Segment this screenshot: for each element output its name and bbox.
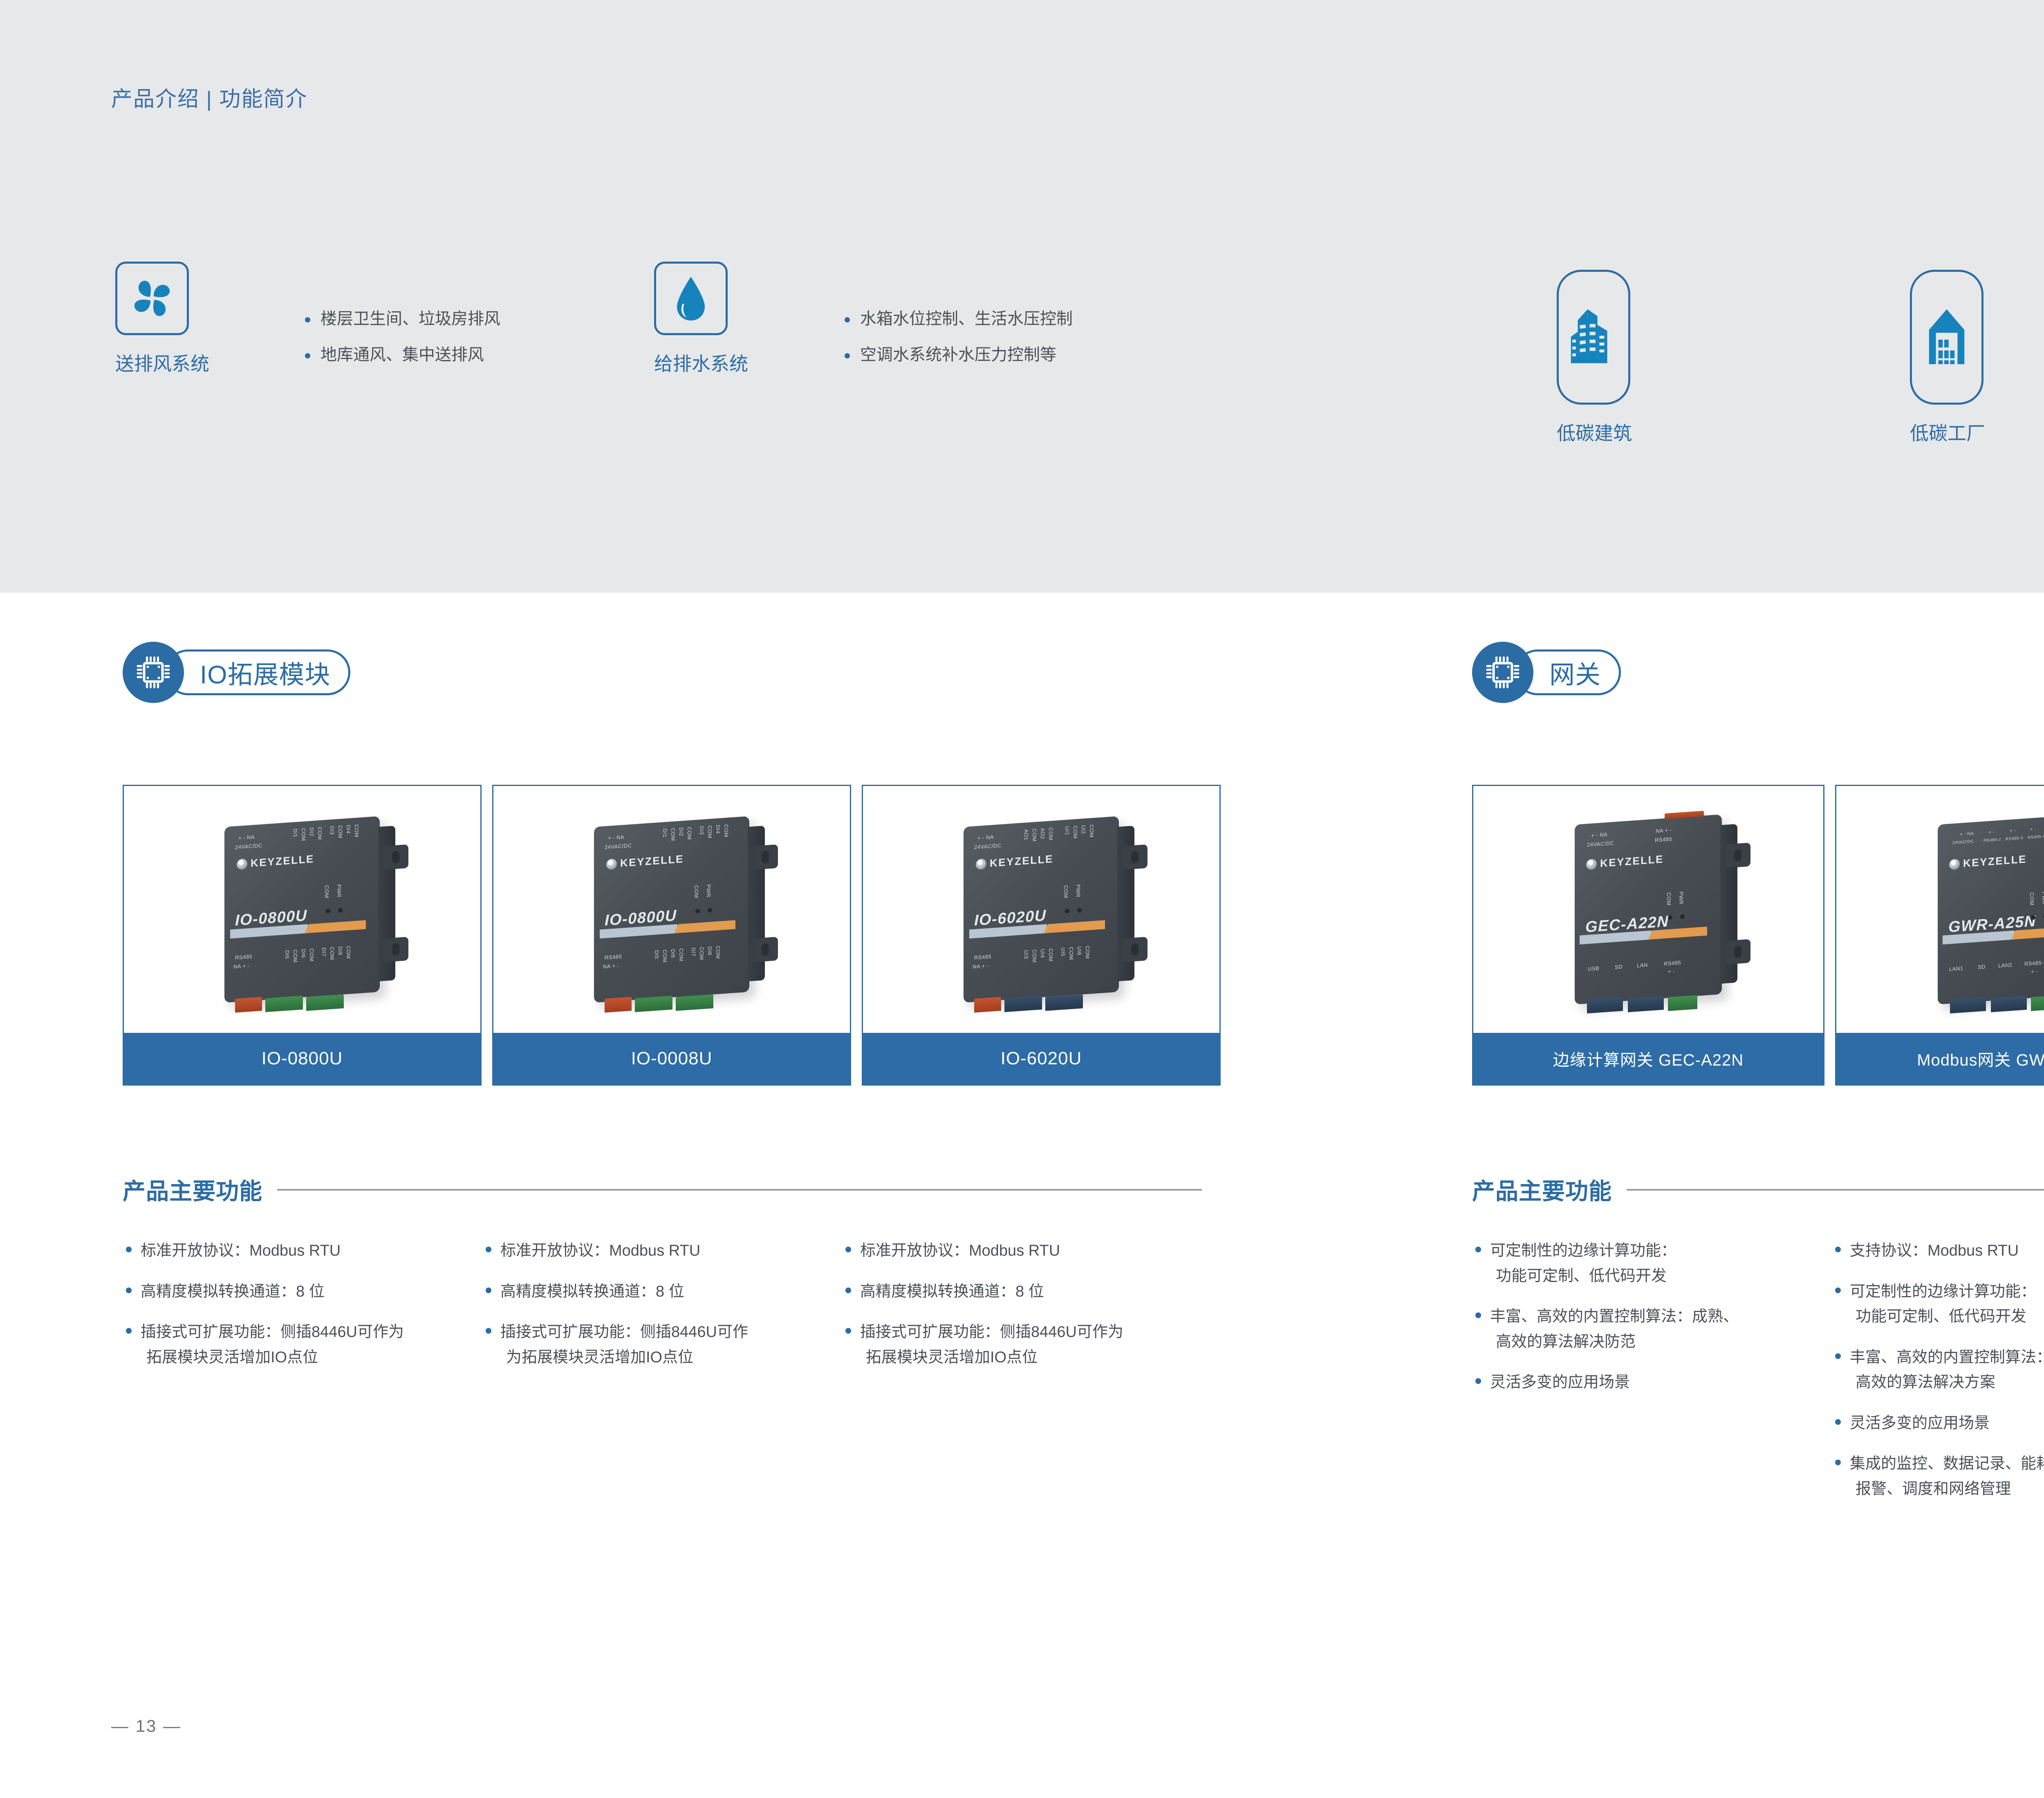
- port-label: COM: [1031, 949, 1038, 963]
- port-label: COM: [345, 946, 352, 959]
- device-illustration: + - NA 24VAC/DC AO1 COM AO2 COM UI1 COM …: [964, 816, 1119, 1003]
- product-caption: IO-0008U: [493, 1033, 850, 1084]
- feature-item: 灵活多变的应用场景: [1472, 1370, 1832, 1395]
- feature-item: 支持协议：Modbus RTU: [1832, 1238, 2044, 1264]
- top-scenario-band: 产品介绍 | 功能简介 产品介绍 | 功能简介 送排风系统 楼层卫生间、垃圾房排…: [0, 0, 2044, 593]
- tile-label: 低碳工厂: [1910, 419, 1985, 446]
- port-label: + - NA: [238, 834, 255, 841]
- port-label: + -: [1988, 830, 1995, 835]
- port-label: DI1: [292, 828, 298, 838]
- port-label: UI2: [1080, 825, 1087, 834]
- port-label: + - NA: [608, 834, 624, 841]
- product-image: + - NA 24VAC/DC AO1 COM AO2 COM UI1 COM …: [863, 786, 1219, 1033]
- port-label: LAN1: [1949, 965, 1963, 972]
- product-image: + - NA 24VAC/DC DI1 COM DI2 COM DI3 COM …: [493, 786, 850, 1033]
- led-label: COM: [2029, 892, 2035, 906]
- port-label: LAN: [1637, 962, 1648, 969]
- product-card-row-gateway: + - NA 24VAC/DC NA + - RS485 KEYZELLE GE…: [1472, 785, 2044, 1086]
- section-pill: IO拓展模块: [165, 649, 350, 695]
- feature-item: 可定制性的边缘计算功能： 功能可定制、低代码开发: [1832, 1279, 2044, 1330]
- device-illustration: + - NA 24VAC/DC DI1 COM DI2 COM DI3 COM …: [224, 816, 380, 1003]
- led-label: PWR: [2041, 891, 2044, 905]
- port-label: DI8: [337, 946, 343, 956]
- led-label: COM: [324, 885, 330, 898]
- port-label: RS485: [235, 954, 252, 961]
- chip-icon: [134, 653, 173, 692]
- feature-line: 功能可定制、低代码开发: [1490, 1264, 1832, 1289]
- port-label: COM: [670, 828, 676, 841]
- port-label: DI7: [690, 947, 697, 957]
- product-card[interactable]: + - NA 24VAC/DC AO1 COM AO2 COM UI1 COM …: [862, 785, 1221, 1086]
- office-buildings-icon: [1569, 305, 1618, 370]
- feature-item: 标准开放协议：Modbus RTU: [123, 1238, 482, 1264]
- port-label: COM: [354, 824, 360, 837]
- water-drop-icon: [668, 273, 714, 324]
- feature-item: 标准开放协议：Modbus RTU: [482, 1238, 842, 1264]
- feature-line: 高精度模拟转换通道：8 位: [860, 1283, 1044, 1300]
- port-label: + - NA: [1591, 831, 1607, 839]
- port-label: COM: [309, 948, 315, 962]
- feature-item: 插接式可扩展功能：侧插8446U可作为 拓展模块灵活增加IO点位: [123, 1320, 482, 1370]
- port-label: + -: [2031, 968, 2038, 974]
- feature-line: 插接式可扩展功能：侧插8446U可作为: [860, 1323, 1123, 1341]
- port-label: DI8: [707, 946, 713, 956]
- scenario-water-bullets: 水箱水位控制、生活水压控制 空调水系统补水压力控制等: [842, 311, 1073, 383]
- feature-line: 拓展模块灵活增加IO点位: [860, 1345, 1202, 1370]
- page-right: 网关 + - NA 24VAC/DC NA + - RS485: [1317, 593, 2044, 1798]
- tile-low-carbon-building: 低碳建筑: [1557, 270, 1632, 446]
- port-label: COM: [1048, 948, 1054, 962]
- port-label: 24VAC/DC: [974, 842, 1002, 851]
- port-label: + - NA: [977, 834, 994, 841]
- port-label: RS485-2: [1983, 837, 2001, 843]
- port-label: USB: [1588, 965, 1599, 972]
- port-label: DI1: [662, 828, 668, 838]
- port-label: COM: [300, 828, 307, 841]
- port-label: RS485: [605, 954, 622, 961]
- feature-line: 集成的监控、数据记录、能耗计量、: [1850, 1455, 2044, 1472]
- water-drop-icon-box: [654, 262, 728, 335]
- feature-line: 可定制性的边缘计算功能：: [1490, 1242, 1676, 1259]
- scenario-label: 送排风系统: [115, 349, 209, 376]
- port-label: COM: [337, 825, 343, 839]
- feature-column: 支持协议：Modbus RTU 可定制性的边缘计算功能： 功能可定制、低代码开发…: [1832, 1238, 2044, 1517]
- port-label: AO2: [1040, 828, 1046, 840]
- product-card[interactable]: + - NA + - + - + - + - 24VAC/DC RS485-2 …: [1835, 785, 2044, 1086]
- feature-line: 可定制性的边缘计算功能：: [1850, 1283, 2036, 1300]
- port-label: RS485: [974, 954, 991, 961]
- feature-item: 灵活多变的应用场景: [1832, 1411, 2044, 1436]
- feature-line: 高精度模拟转换通道：8 位: [141, 1283, 325, 1300]
- port-label: DI5: [284, 950, 290, 959]
- device-illustration: + - NA 24VAC/DC DI1 COM DI2 COM DI3 COM …: [594, 816, 749, 1003]
- tile-label: 低碳建筑: [1557, 419, 1632, 446]
- brand-mark-icon: [976, 858, 986, 870]
- product-caption: 边缘计算网关 GEC-A22N: [1473, 1033, 1823, 1084]
- port-label: COM: [715, 946, 721, 959]
- bullet-item: 空调水系统补水压力控制等: [842, 347, 1073, 363]
- port-label: SD: [1615, 963, 1623, 970]
- feature-line: 拓展模块灵活增加IO点位: [141, 1345, 482, 1370]
- feature-line: 支持协议：Modbus RTU: [1850, 1242, 2019, 1259]
- port-label: COM: [1031, 828, 1038, 842]
- port-label: COM: [662, 949, 668, 963]
- feature-column: 标准开放协议：Modbus RTU 高精度模拟转换通道：8 位 插接式可扩展功能…: [123, 1238, 482, 1386]
- feature-item: 集成的监控、数据记录、能耗计量、 报警、调度和网络管理: [1832, 1451, 2044, 1502]
- port-label: + -: [2030, 827, 2036, 832]
- port-label: DI4: [715, 825, 721, 834]
- features-heading-gateway: 产品主要功能: [1472, 1173, 2044, 1206]
- factory-icon: [1922, 305, 1971, 370]
- section-header-io: IO拓展模块: [123, 642, 350, 703]
- fan-icon: [126, 273, 178, 324]
- features-columns-io: 标准开放协议：Modbus RTU 高精度模拟转换通道：8 位 插接式可扩展功能…: [123, 1238, 1202, 1386]
- device-brand: KEYZELLE: [1963, 853, 2027, 870]
- feature-item: 高精度模拟转换通道：8 位: [842, 1279, 1202, 1305]
- feature-item: 丰富、高效的内置控制算法：成熟、 高效的算法解决方案: [1832, 1345, 2044, 1395]
- bullet-item: 地库通风、集中送排风: [303, 347, 500, 363]
- features-heading-io: 产品主要功能: [123, 1173, 1202, 1206]
- port-label: COM: [1048, 827, 1054, 841]
- port-label: DI4: [345, 825, 352, 834]
- port-label: COM: [678, 948, 684, 962]
- port-label: COM: [723, 824, 729, 837]
- scenario-ventilation-bullets: 楼层卫生间、垃圾房排风 地库通风、集中送排风: [303, 311, 500, 383]
- bullet-item: 楼层卫生间、垃圾房排风: [303, 311, 500, 327]
- port-label: DI3: [699, 826, 705, 835]
- port-label: NA + -: [1656, 827, 1672, 834]
- port-label: NA + -: [233, 963, 250, 970]
- page-left: IO拓展模块 + - NA 24VAC/DC DI1 COM: [0, 593, 1316, 1798]
- port-label: COM: [1072, 826, 1078, 839]
- feature-line: 功能可定制、低代码开发: [1850, 1304, 2044, 1330]
- port-label: SD: [1978, 963, 1986, 970]
- device-brand: KEYZELLE: [1600, 853, 1664, 870]
- features-title: 产品主要功能: [1472, 1173, 1612, 1206]
- heading-rule: [277, 1189, 1202, 1191]
- feature-column: 标准开放协议：Modbus RTU 高精度模拟转换通道：8 位 插接式可扩展功能…: [482, 1238, 842, 1386]
- feature-line: 高效的算法解决方案: [1850, 1370, 2044, 1395]
- factory-icon-box: [1910, 270, 1983, 405]
- port-label: DI5: [654, 950, 660, 959]
- port-label: UI1: [1064, 826, 1070, 835]
- feature-item: 可定制性的边缘计算功能： 功能可定制、低代码开发: [1472, 1238, 1832, 1289]
- port-label: UI5: [1060, 947, 1066, 957]
- product-image: + - NA 24VAC/DC NA + - RS485 KEYZELLE GE…: [1473, 786, 1823, 1033]
- device-brand: KEYZELLE: [990, 853, 1053, 870]
- port-label: UI3: [1023, 950, 1029, 959]
- port-label: COM: [1085, 946, 1091, 959]
- fan-icon-box: [115, 262, 189, 335]
- scenario-label: 给排水系统: [654, 349, 748, 376]
- led-label: PWR: [336, 884, 342, 898]
- brand-mark-icon: [1949, 858, 1960, 870]
- product-image: + - NA 24VAC/DC DI1 COM DI2 COM DI3 COM …: [124, 786, 480, 1033]
- port-label: COM: [329, 947, 335, 960]
- port-label: COM: [317, 826, 323, 840]
- port-label: COM: [699, 947, 705, 960]
- port-label: 24VAC/DC: [1952, 839, 1974, 845]
- product-caption: IO-6020U: [863, 1033, 1219, 1084]
- port-label: DI2: [678, 827, 684, 837]
- feature-item: 高精度模拟转换通道：8 位: [482, 1279, 842, 1305]
- port-label: UI4: [1040, 949, 1046, 958]
- feature-item: 插接式可扩展功能：侧插8446U可作 为拓展模块灵活增加IO点位: [482, 1320, 842, 1370]
- folio-left: — 13 —: [111, 1716, 182, 1736]
- port-label: COM: [1068, 947, 1074, 960]
- device-brand: KEYZELLE: [620, 853, 684, 870]
- feature-item: 标准开放协议：Modbus RTU: [842, 1238, 1202, 1264]
- device-illustration: + - NA + - + - + - + - 24VAC/DC RS485-2 …: [1938, 814, 2044, 1004]
- product-card[interactable]: + - NA 24VAC/DC DI1 COM DI2 COM DI3 COM …: [492, 785, 851, 1086]
- product-card-row-io: + - NA 24VAC/DC DI1 COM DI2 COM DI3 COM …: [123, 785, 1221, 1086]
- feature-line: 灵活多变的应用场景: [1490, 1374, 1630, 1391]
- port-label: DI7: [321, 947, 327, 957]
- feature-line: 插接式可扩展功能：侧插8446U可作: [500, 1323, 748, 1341]
- port-label: + - NA: [1960, 831, 1974, 837]
- feature-item: 高精度模拟转换通道：8 位: [123, 1279, 482, 1305]
- led-label: PWR: [1075, 884, 1081, 898]
- feature-column: 标准开放协议：Modbus RTU 高精度模拟转换通道：8 位 插接式可扩展功能…: [842, 1238, 1202, 1386]
- port-label: COM: [292, 949, 298, 963]
- feature-line: 标准开放协议：Modbus RTU: [500, 1242, 700, 1259]
- feature-line: 丰富、高效的内置控制算法：成熟、: [1490, 1308, 1739, 1325]
- port-label: COM: [707, 825, 713, 839]
- feature-line: 报警、调度和网络管理: [1850, 1477, 2044, 1502]
- features-title: 产品主要功能: [123, 1173, 262, 1206]
- port-label: AO1: [1023, 829, 1029, 841]
- product-caption: Modbus网关 GWR-A25N: [1836, 1033, 2044, 1084]
- feature-line: 丰富、高效的内置控制算法：成熟、: [1850, 1349, 2044, 1366]
- scenario-ventilation: 送排风系统: [115, 262, 209, 376]
- port-label: NA + -: [973, 963, 989, 970]
- port-label: COM: [686, 826, 693, 840]
- port-label: COM: [1089, 824, 1095, 838]
- port-label: 24VAC/DC: [1587, 840, 1614, 848]
- port-label: RS485: [1655, 836, 1672, 843]
- port-label: 24VAC/DC: [605, 842, 632, 851]
- features-columns-gateway: 可定制性的边缘计算功能： 功能可定制、低代码开发 丰富、高效的内置控制算法：成熟…: [1472, 1238, 2044, 1517]
- chip-icon: [1483, 653, 1522, 692]
- section-title: 网关: [1549, 654, 1601, 691]
- port-label: NA + -: [603, 963, 619, 970]
- led-label: COM: [1666, 892, 1672, 906]
- feature-line: 高精度模拟转换通道：8 位: [500, 1283, 684, 1300]
- port-label: DI3: [329, 826, 335, 835]
- spread-page: 产品介绍 | 功能简介 产品介绍 | 功能简介 送排风系统 楼层卫生间、垃圾房排…: [0, 0, 2044, 1798]
- port-label: RS485-1: [2024, 959, 2044, 967]
- feature-item: 插接式可扩展功能：侧插8446U可作为 拓展模块灵活增加IO点位: [842, 1320, 1202, 1370]
- section-title: IO拓展模块: [200, 654, 330, 691]
- led-label: COM: [693, 885, 699, 898]
- device-brand: KEYZELLE: [251, 853, 314, 870]
- port-label: 24VAC/DC: [235, 842, 262, 851]
- section-header-gateway: 网关: [1472, 642, 1621, 703]
- port-label: RS485-4: [2028, 834, 2044, 840]
- tile-low-carbon-factory: 低碳工厂: [1910, 270, 1985, 446]
- brand-mark-icon: [606, 858, 617, 870]
- port-label: + -: [2010, 828, 2016, 833]
- port-label: DI2: [309, 827, 315, 837]
- scenario-water: 给排水系统: [654, 262, 748, 376]
- feature-line: 插接式可扩展功能：侧插8446U可作为: [141, 1323, 404, 1341]
- feature-line: 标准开放协议：Modbus RTU: [860, 1242, 1060, 1259]
- bullet-item: 水箱水位控制、生活水压控制: [842, 311, 1073, 327]
- product-image: + - NA + - + - + - + - 24VAC/DC RS485-2 …: [1836, 786, 2044, 1033]
- running-head-left: 产品介绍 | 功能简介: [111, 82, 307, 112]
- product-card[interactable]: + - NA 24VAC/DC DI1 COM DI2 COM DI3 COM …: [123, 785, 482, 1086]
- chip-icon-badge: [1472, 642, 1533, 703]
- chip-icon-badge: [123, 642, 184, 703]
- feature-item: 丰富、高效的内置控制算法：成熟、 高效的算法解决防范: [1472, 1304, 1832, 1355]
- led-label: PWR: [1678, 891, 1684, 905]
- brand-mark-icon: [237, 858, 247, 870]
- product-card[interactable]: + - NA 24VAC/DC NA + - RS485 KEYZELLE GE…: [1472, 785, 1824, 1086]
- port-label: LAN2: [1998, 962, 2013, 969]
- port-label: RS485-3: [2006, 836, 2023, 842]
- feature-column: 可定制性的边缘计算功能： 功能可定制、低代码开发 丰富、高效的内置控制算法：成熟…: [1472, 1238, 1832, 1517]
- port-label: DI6: [300, 949, 307, 958]
- port-label: DI6: [670, 949, 676, 958]
- feature-line: 为拓展模块灵活增加IO点位: [500, 1345, 842, 1370]
- brand-mark-icon: [1586, 858, 1597, 870]
- port-label: UI6: [1076, 946, 1083, 956]
- office-buildings-icon-box: [1557, 270, 1630, 405]
- device-illustration: + - NA 24VAC/DC NA + - RS485 KEYZELLE GE…: [1575, 814, 1722, 1004]
- port-label: RS485: [1664, 959, 1681, 967]
- heading-rule: [1627, 1189, 2044, 1191]
- led-label: PWR: [706, 884, 712, 898]
- port-label: + -: [1668, 968, 1675, 974]
- feature-line: 标准开放协议：Modbus RTU: [141, 1242, 341, 1259]
- led-label: COM: [1063, 885, 1069, 898]
- feature-line: 灵活多变的应用场景: [1850, 1415, 1990, 1432]
- feature-line: 高效的算法解决防范: [1490, 1330, 1832, 1355]
- product-caption: IO-0800U: [124, 1033, 480, 1084]
